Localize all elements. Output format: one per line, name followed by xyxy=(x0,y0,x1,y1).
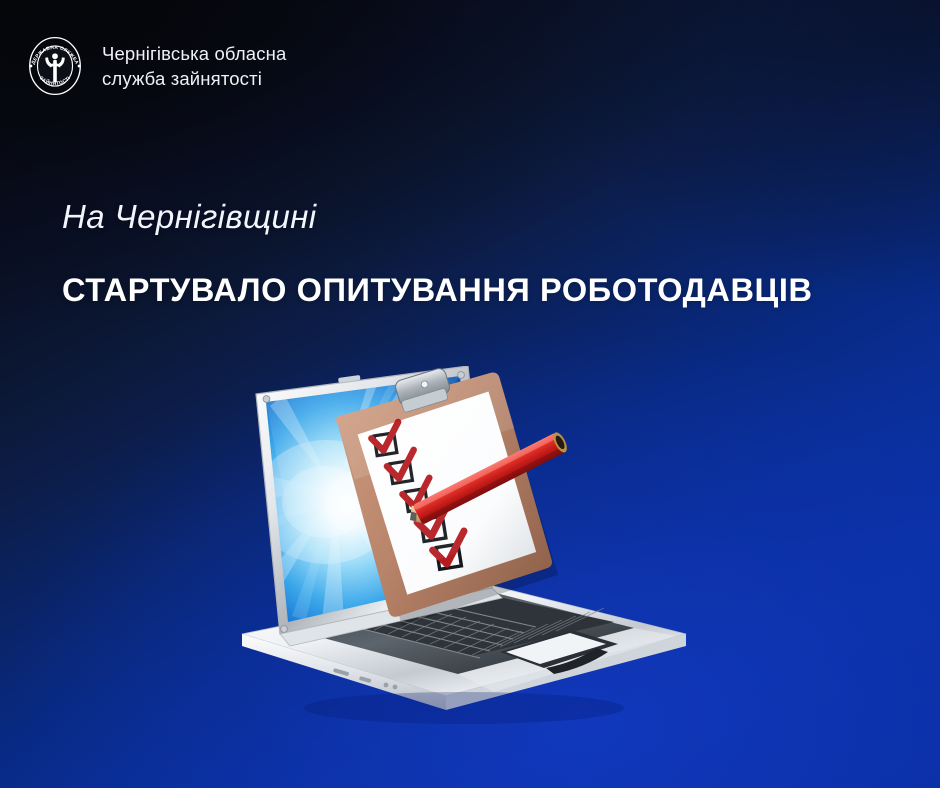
laptop-with-clipboard-graphic xyxy=(214,366,714,766)
background-right-shadow xyxy=(510,0,940,300)
kicker-text: На Чернігівщині xyxy=(62,198,317,236)
headline-text: СТАРТУВАЛО ОПИТУВАННЯ РОБОТОДАВЦІВ xyxy=(62,272,813,309)
laptop-survey-illustration xyxy=(214,366,714,766)
brand-header: ДЕРЖАВНА СЛУЖБА ЗАЙНЯТОСТІ Чернігівська … xyxy=(24,33,286,99)
organization-name: Чернігівська обласна служба зайнятості xyxy=(102,41,286,91)
employment-service-emblem-icon: ДЕРЖАВНА СЛУЖБА ЗАЙНЯТОСТІ xyxy=(24,33,86,99)
poster-canvas: ДЕРЖАВНА СЛУЖБА ЗАЙНЯТОСТІ Чернігівська … xyxy=(0,0,940,788)
